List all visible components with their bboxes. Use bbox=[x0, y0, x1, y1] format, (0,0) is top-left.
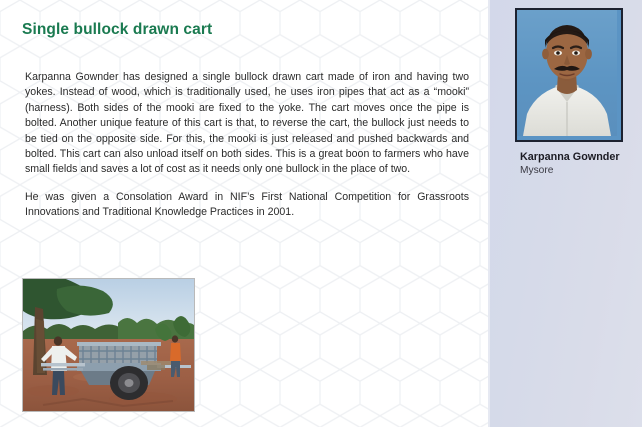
innovator-location: Mysore bbox=[520, 164, 638, 178]
portrait-sidebar: Karpanna Gownder Mysore bbox=[488, 0, 642, 427]
page-title: Single bullock drawn cart bbox=[22, 21, 212, 39]
portrait-caption: Karpanna Gownder Mysore bbox=[520, 150, 638, 178]
innovation-photo bbox=[22, 278, 195, 412]
article-paragraph-1: Karpanna Gownder has designed a single b… bbox=[25, 70, 469, 178]
page-root: Single bullock drawn cart Karpanna Gownd… bbox=[0, 0, 642, 427]
portrait-photo bbox=[515, 8, 623, 142]
sidebar-left-edge bbox=[488, 0, 490, 427]
main-content-column: Single bullock drawn cart Karpanna Gownd… bbox=[0, 0, 488, 427]
innovator-name: Karpanna Gownder bbox=[520, 150, 638, 164]
article-paragraph-2: He was given a Consolation Award in NIF’… bbox=[25, 190, 469, 221]
